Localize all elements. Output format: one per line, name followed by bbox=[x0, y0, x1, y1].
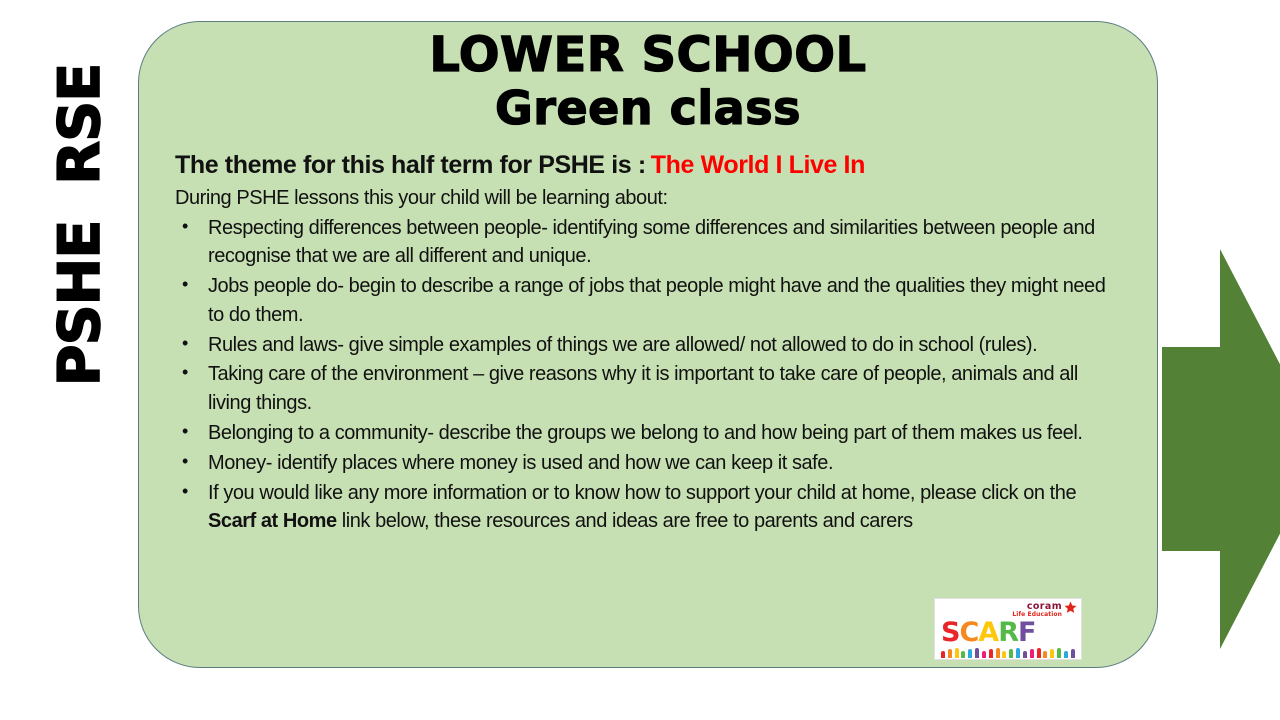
list-item-text: Jobs people do- begin to describe a rang… bbox=[208, 275, 1105, 326]
person-figure-icon bbox=[1009, 649, 1013, 658]
person-figure-icon bbox=[968, 649, 972, 658]
scarf-letter-a: A bbox=[978, 619, 998, 646]
person-figure-icon bbox=[1071, 649, 1075, 658]
bullet-icon: • bbox=[182, 449, 188, 475]
person-figure-icon bbox=[982, 651, 986, 658]
person-figure-icon bbox=[1023, 651, 1027, 658]
scarf-letter-r: R bbox=[998, 619, 1018, 646]
person-figure-icon bbox=[1043, 651, 1047, 658]
list-item-scarf-at-home: •If you would like any more information … bbox=[175, 479, 1117, 537]
person-figure-icon bbox=[1037, 648, 1041, 658]
bullet-icon: • bbox=[182, 479, 188, 505]
theme-label: The theme for this half term for PSHE is… bbox=[175, 151, 646, 179]
vertical-subject-label: PSHERSE bbox=[25, 35, 135, 415]
scarf-logo[interactable]: coram Life Education S C A R F bbox=[934, 598, 1082, 660]
list-item: • Jobs people do- begin to describe a ra… bbox=[175, 272, 1117, 330]
scarf-wordmark: S C A R F bbox=[939, 619, 1077, 646]
person-figure-icon bbox=[989, 649, 993, 658]
vertical-label-rse: RSE bbox=[47, 64, 113, 185]
bullet-icon: • bbox=[182, 214, 188, 240]
bullet-icon: • bbox=[182, 272, 188, 298]
list-item: • Taking care of the environment – give … bbox=[175, 360, 1117, 418]
person-figure-icon bbox=[1057, 648, 1061, 658]
scarf-letter-f: F bbox=[1018, 619, 1035, 646]
list-item: • Belonging to a community- describe the… bbox=[175, 419, 1117, 448]
person-figure-icon bbox=[1002, 651, 1006, 658]
intro-line: During PSHE lessons this your child will… bbox=[175, 186, 1117, 211]
class-subtitle: Green class bbox=[139, 84, 1157, 134]
page-title: LOWER SCHOOL bbox=[139, 30, 1157, 82]
title-block: LOWER SCHOOL Green class bbox=[139, 22, 1157, 134]
scarf-people-figures bbox=[939, 647, 1077, 658]
body-copy: The theme for this half term for PSHE is… bbox=[139, 134, 1157, 537]
vertical-label-pshe: PSHE bbox=[47, 221, 113, 386]
main-content-panel: LOWER SCHOOL Green class The theme for t… bbox=[138, 21, 1158, 668]
person-figure-icon bbox=[961, 651, 965, 658]
right-arrow-icon bbox=[1162, 249, 1280, 649]
list-item: • Money- identify places where money is … bbox=[175, 449, 1117, 478]
list-item-text: Taking care of the environment – give re… bbox=[208, 363, 1078, 414]
scarf-at-home-link[interactable]: Scarf at Home bbox=[208, 510, 337, 532]
list-item: • Rules and laws- give simple examples o… bbox=[175, 331, 1117, 360]
list-item-text: Respecting differences between people- i… bbox=[208, 217, 1095, 268]
list-item-text-pre: If you would like any more information o… bbox=[208, 482, 1076, 504]
list-item-text-post: link below, these resources and ideas ar… bbox=[337, 510, 913, 532]
bullet-icon: • bbox=[182, 331, 188, 357]
person-figure-icon bbox=[955, 648, 959, 658]
person-figure-icon bbox=[1030, 649, 1034, 658]
scarf-letter-c: C bbox=[959, 619, 978, 646]
person-figure-icon bbox=[1016, 648, 1020, 658]
list-item-text: Rules and laws- give simple examples of … bbox=[208, 334, 1037, 356]
list-item-text: Belonging to a community- describe the g… bbox=[208, 422, 1082, 444]
vertical-label-text: PSHERSE bbox=[52, 64, 109, 386]
theme-value: The World I Live In bbox=[651, 151, 865, 179]
person-figure-icon bbox=[948, 649, 952, 658]
theme-line: The theme for this half term for PSHE is… bbox=[175, 150, 1117, 180]
star-icon bbox=[1064, 601, 1077, 614]
learning-objectives-list: • Respecting differences between people-… bbox=[175, 214, 1117, 537]
bullet-icon: • bbox=[182, 360, 188, 386]
person-figure-icon bbox=[975, 648, 979, 658]
person-figure-icon bbox=[1050, 649, 1054, 658]
person-figure-icon bbox=[1064, 651, 1068, 658]
list-item-text: Money- identify places where money is us… bbox=[208, 452, 833, 474]
bullet-icon: • bbox=[182, 419, 188, 445]
scarf-letter-s: S bbox=[941, 619, 959, 646]
list-item: • Respecting differences between people-… bbox=[175, 214, 1117, 272]
person-figure-icon bbox=[996, 648, 1000, 658]
person-figure-icon bbox=[941, 651, 945, 658]
